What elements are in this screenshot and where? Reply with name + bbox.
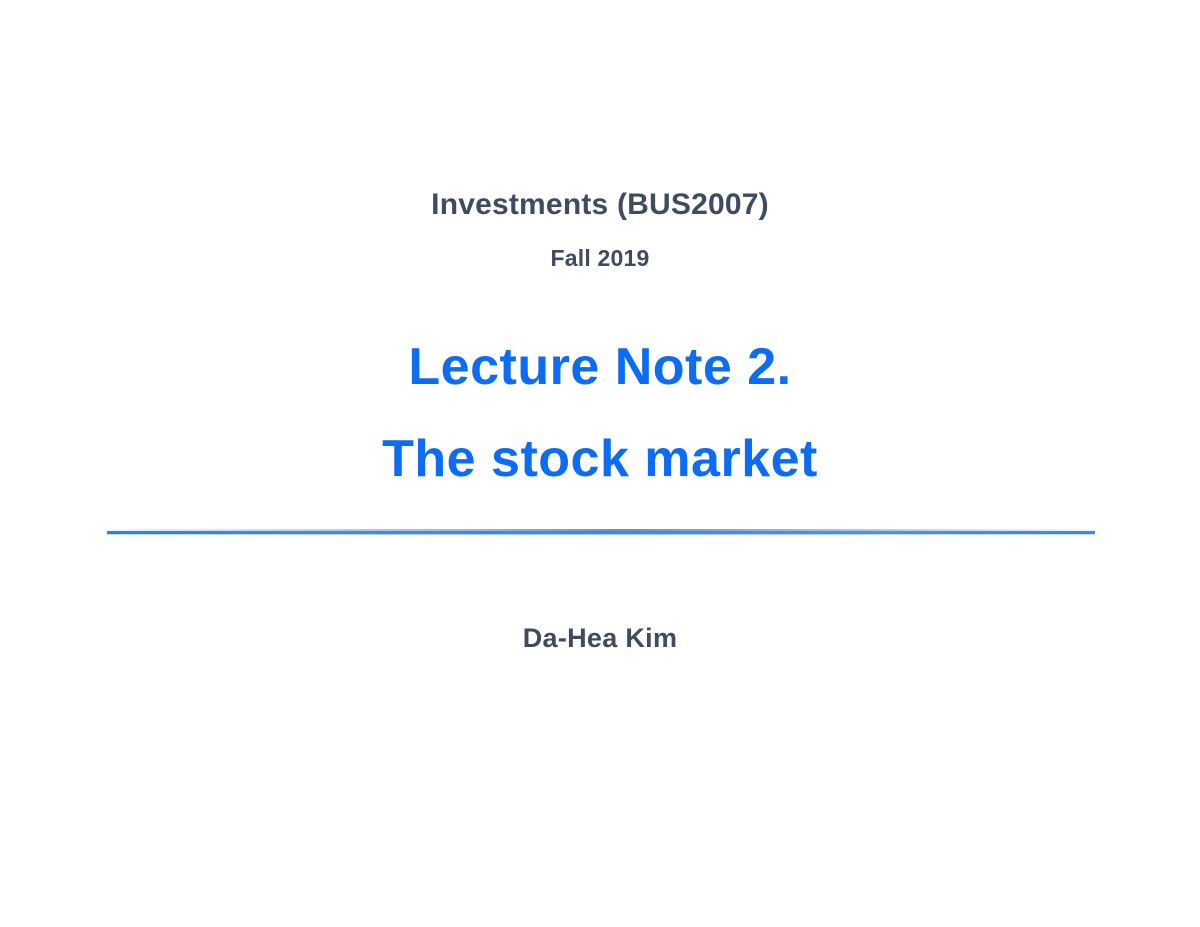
divider-shadow [107,534,1095,535]
title-line-primary: Lecture Note 2. [0,336,1200,398]
slide-author: Da-Hea Kim [0,620,1200,656]
course-title: Investments (BUS2007) [0,186,1200,224]
author-name: Da-Hea Kim [0,620,1200,656]
slide-header: Investments (BUS2007) Fall 2019 [0,186,1200,273]
title-slide: Investments (BUS2007) Fall 2019 Lecture … [0,0,1200,927]
slide-title: Lecture Note 2. The stock market [0,336,1200,490]
course-term: Fall 2019 [0,224,1200,273]
title-divider-rule [107,524,1095,540]
title-line-secondary: The stock market [0,398,1200,490]
